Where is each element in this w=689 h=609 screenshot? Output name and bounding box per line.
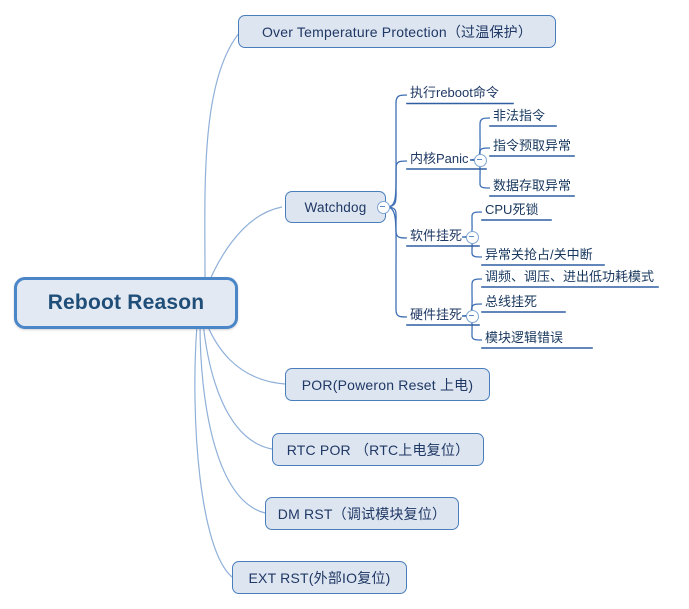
leaf-label: 总线挂死 [482, 294, 540, 310]
leaf-node[interactable]: 总线挂死 [482, 294, 540, 310]
leaf-node[interactable]: 模块逻辑错误 [482, 330, 566, 346]
collapse-toggle-software-hang[interactable] [466, 231, 479, 244]
collapse-toggle-kernel-panic[interactable] [474, 154, 487, 167]
branch-label: EXT RST(外部IO复位) [249, 568, 391, 588]
leaf-label: 调频、调压、进出低功耗模式 [482, 269, 657, 285]
root-node[interactable]: Reboot Reason [14, 277, 238, 329]
leaf-node[interactable]: 非法指令 [490, 108, 548, 124]
leaf-node[interactable]: CPU死锁 [482, 202, 541, 218]
mindmap-canvas: Reboot Reason Over Temperature Protectio… [0, 0, 689, 609]
collapse-toggle-watchdog[interactable] [377, 201, 390, 214]
leaf-label: 异常关抢占/关中断 [482, 247, 596, 263]
branch-label: Over Temperature Protection（过温保护） [262, 22, 532, 42]
subnode-label: 硬件挂死 [407, 307, 465, 323]
leaf-node[interactable]: 数据存取异常 [490, 178, 574, 194]
subnode-kernel-panic[interactable]: 内核Panic [407, 151, 472, 167]
branch-label: POR(Poweron Reset 上电) [302, 375, 473, 395]
leaf-node[interactable]: 指令预取异常 [490, 138, 574, 154]
branch-label: DM RST（调试模块复位） [278, 504, 446, 524]
subnode-hardware-hang[interactable]: 硬件挂死 [407, 307, 465, 323]
branch-node-ext-rst[interactable]: EXT RST(外部IO复位) [232, 561, 407, 594]
subnode-label: 软件挂死 [407, 228, 465, 244]
leaf-label: 非法指令 [490, 108, 548, 124]
subnode-label: 内核Panic [407, 151, 472, 167]
branch-node-watchdog[interactable]: Watchdog [285, 191, 386, 223]
branch-node-por[interactable]: POR(Poweron Reset 上电) [285, 368, 490, 401]
subnode-reboot-cmd[interactable]: 执行reboot命令 [407, 85, 502, 101]
leaf-label: 指令预取异常 [490, 138, 574, 154]
leaf-label: CPU死锁 [482, 202, 541, 218]
leaf-node[interactable]: 异常关抢占/关中断 [482, 247, 596, 263]
branch-label: RTC POR （RTC上电复位） [287, 440, 470, 460]
leaf-label: 数据存取异常 [490, 178, 574, 194]
root-node-label: Reboot Reason [48, 291, 205, 315]
branch-node-dm-rst[interactable]: DM RST（调试模块复位） [265, 497, 459, 530]
branch-node-over-temperature-protection[interactable]: Over Temperature Protection（过温保护） [238, 15, 556, 48]
branch-node-rtc-por[interactable]: RTC POR （RTC上电复位） [272, 433, 484, 466]
collapse-toggle-hardware-hang[interactable] [466, 310, 479, 323]
branch-label: Watchdog [305, 200, 367, 215]
leaf-node[interactable]: 调频、调压、进出低功耗模式 [482, 269, 657, 285]
subnode-software-hang[interactable]: 软件挂死 [407, 228, 465, 244]
subnode-label: 执行reboot命令 [407, 85, 502, 101]
leaf-label: 模块逻辑错误 [482, 330, 566, 346]
